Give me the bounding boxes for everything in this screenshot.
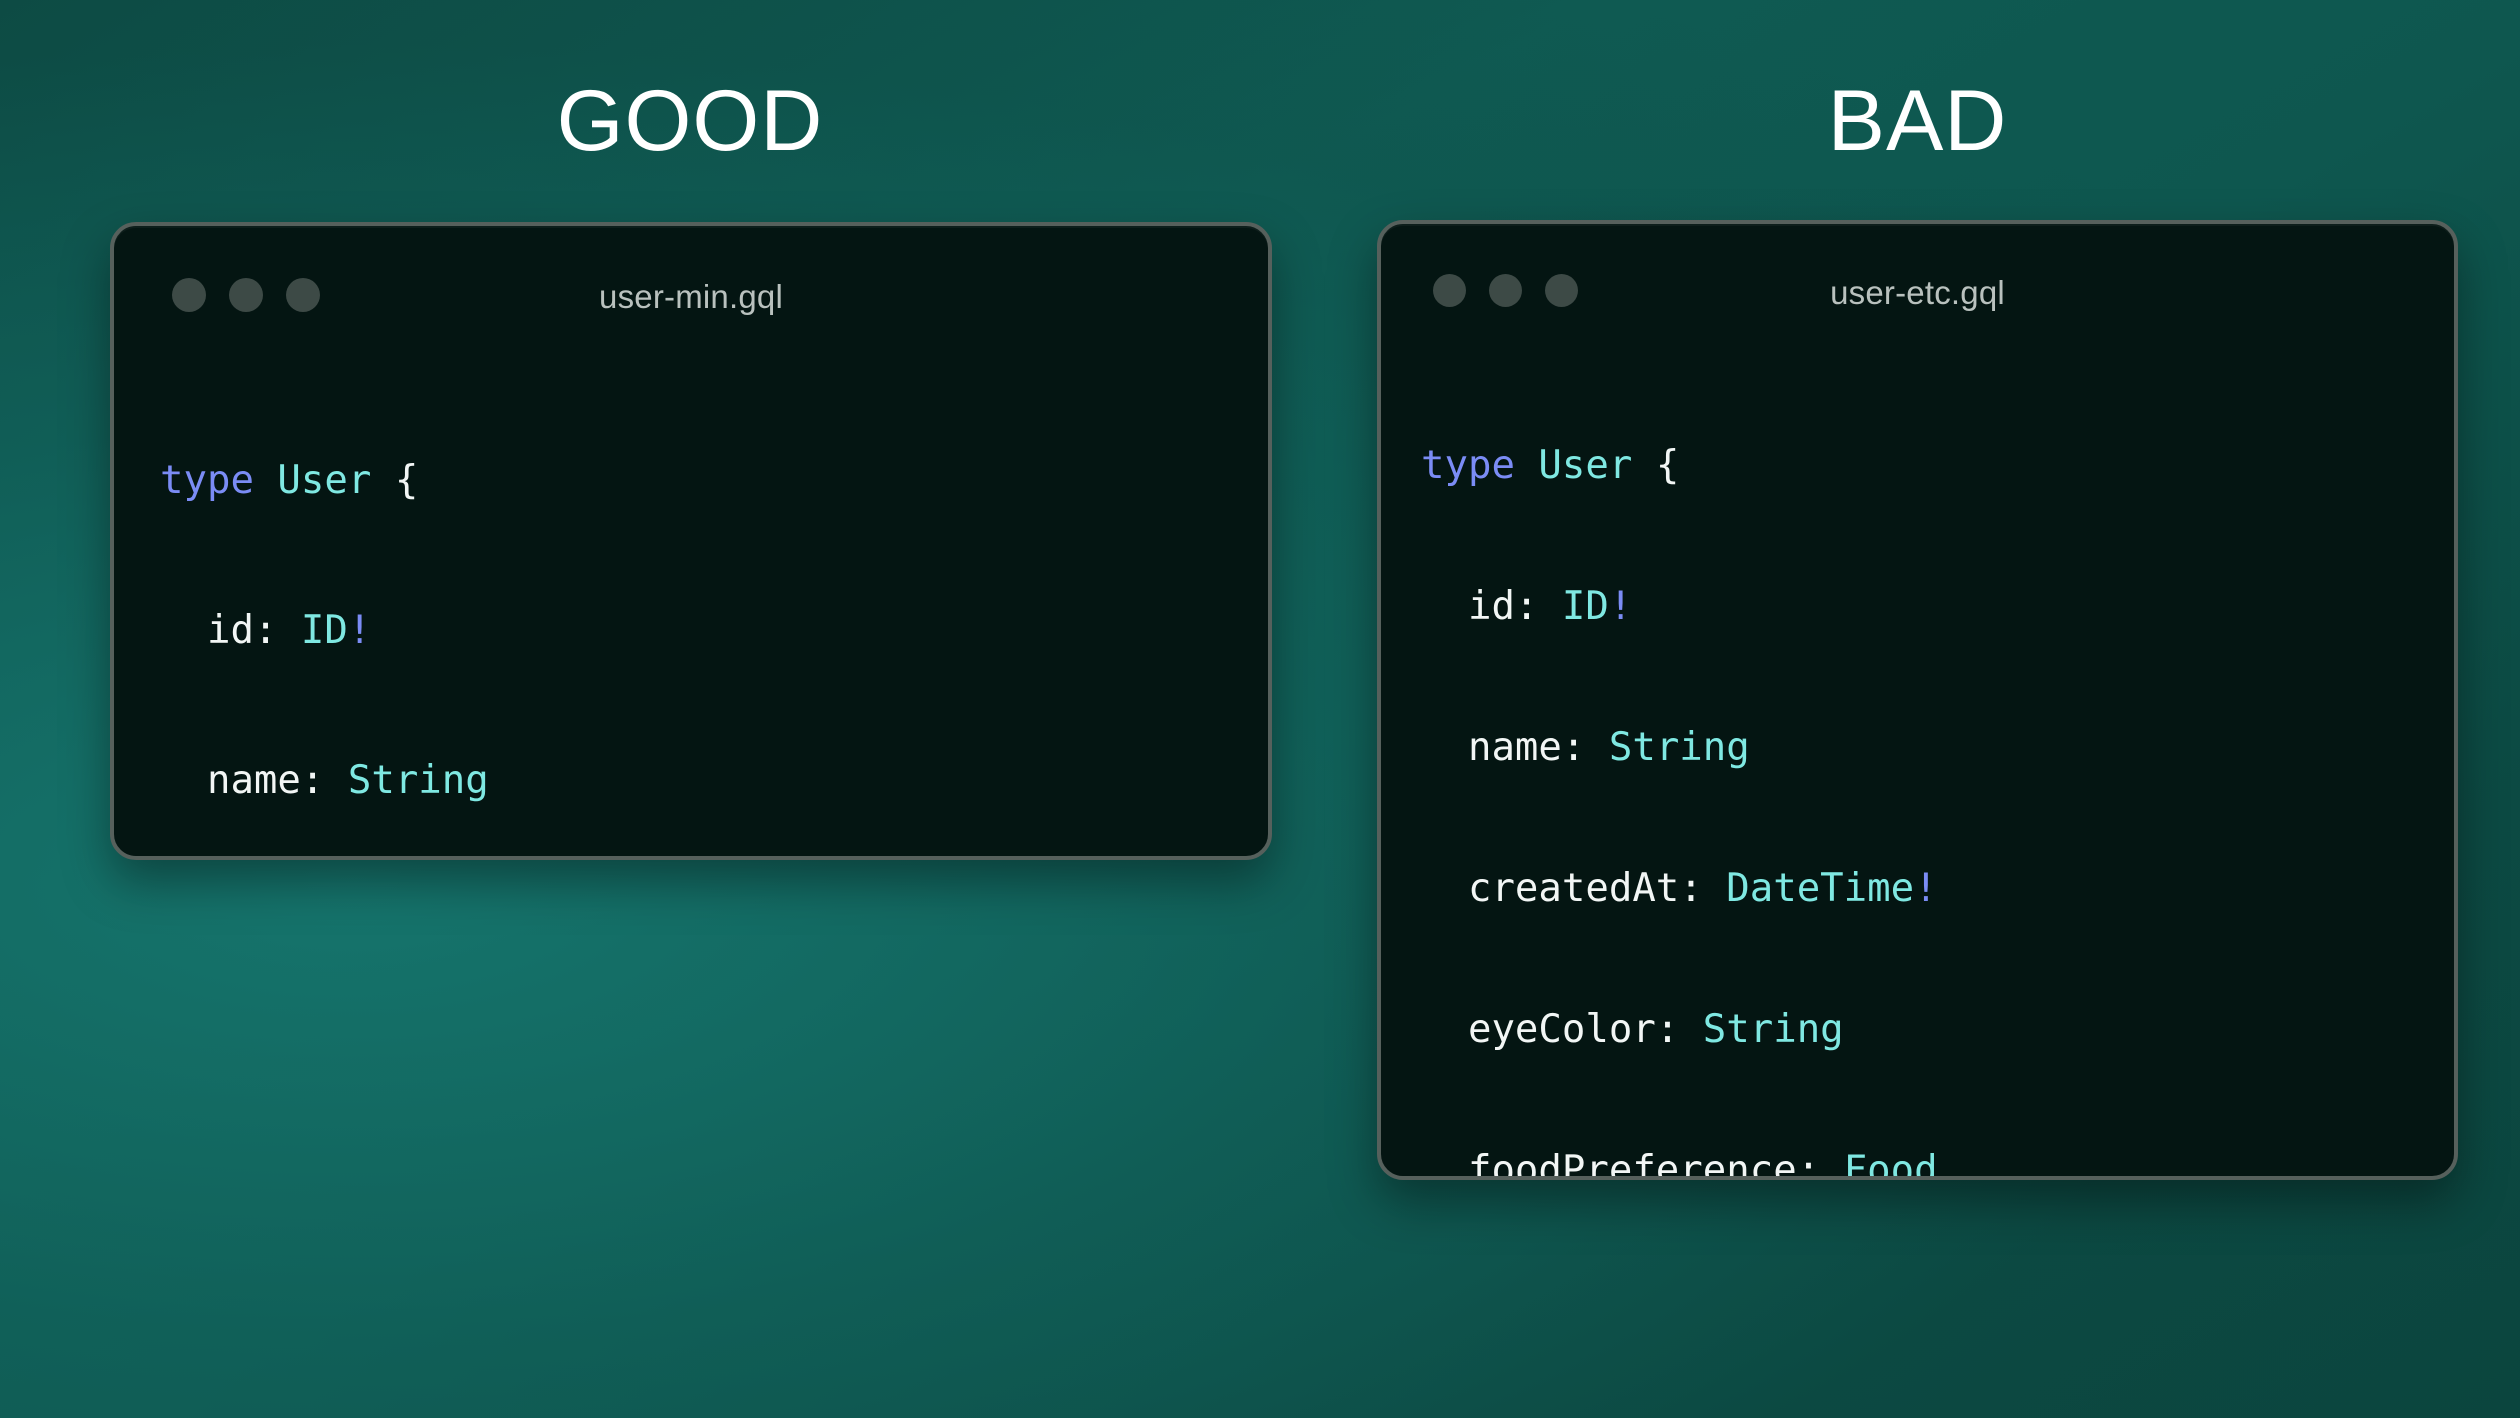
token-field: id: [207,608,277,653]
token-bang: ! [1609,584,1632,629]
token-bang: ! [1914,866,1937,911]
code-line: foodPreference: Food [1421,1147,2454,1180]
code-line: eyeColor: String [1421,1006,2454,1053]
code-line: id: ID! [160,606,1268,656]
window-filename-good: user-min.gql [114,278,1268,316]
token-type: String [1703,1007,1844,1052]
code-block-good: type User { id: ID! name: String created… [114,334,1268,860]
code-window-bad: user-etc.gql type User { id: ID! name: S… [1377,220,2458,1180]
code-line: createdAt: DateTime! [1421,865,2454,912]
code-line: name: String [160,756,1268,806]
token-field: eyeColor: [1468,1007,1679,1052]
code-window-good: user-min.gql type User { id: ID! name: S… [110,222,1272,860]
token-type: Food [1844,1148,1938,1180]
token-type: DateTime [1726,866,1914,911]
code-block-bad: type User { id: ID! name: String created… [1381,332,2454,1180]
comparison-figure: GOOD BAD user-min.gql type User { id: ID… [0,0,2520,1418]
token-field: id: [1468,584,1538,629]
token-type: String [1609,725,1750,770]
code-line: type User { [1421,442,2454,489]
token-type: ID [1562,584,1609,629]
token-field: name: [207,758,324,803]
heading-good: GOOD [0,78,1380,164]
code-line: type User { [160,456,1268,506]
token-type: ID [301,608,348,653]
token-keyword: type [1421,443,1515,488]
window-filename-bad: user-etc.gql [1381,274,2454,312]
token-type-name: User [1538,443,1632,488]
token-keyword: type [160,458,254,503]
token-type: String [348,758,489,803]
token-type-name: User [277,458,371,503]
token-brace-open: { [395,458,418,503]
token-brace-open: { [1656,443,1679,488]
token-field: foodPreference: [1468,1148,1820,1180]
window-titlebar: user-min.gql [114,226,1268,334]
token-bang: ! [348,608,371,653]
token-field: createdAt: [1468,866,1703,911]
code-line: name: String [1421,724,2454,771]
window-titlebar: user-etc.gql [1381,224,2454,332]
token-field: name: [1468,725,1585,770]
heading-bad: BAD [1375,78,2460,164]
code-line: id: ID! [1421,583,2454,630]
